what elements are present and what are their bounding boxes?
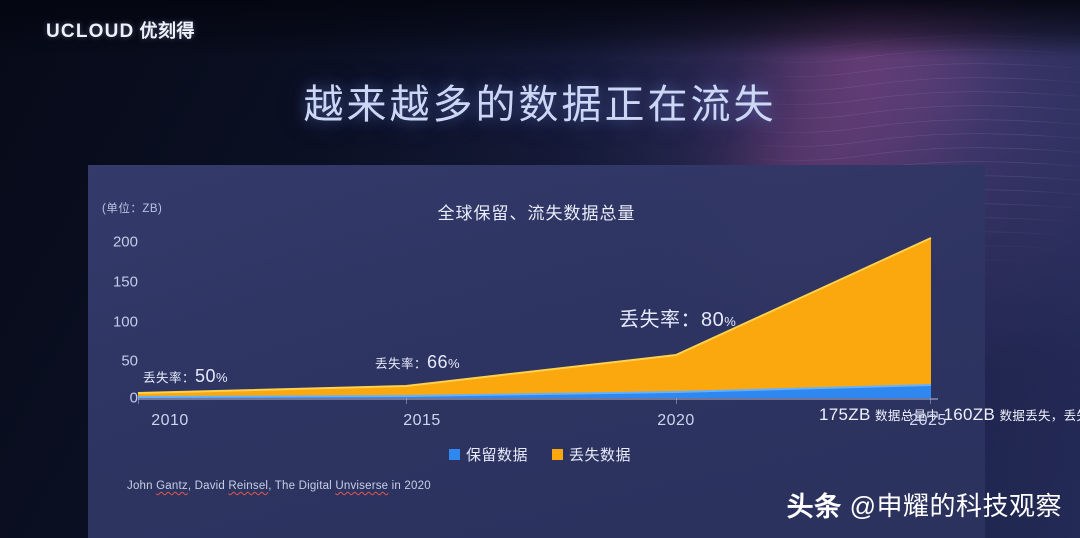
- legend-swatch-lost-icon: [552, 449, 563, 460]
- x-tick-mark-2025: [930, 398, 931, 404]
- watermark-source: 头条: [787, 485, 842, 524]
- series-lost-area: [138, 238, 931, 398]
- footnote-part-e: , The Digital: [268, 480, 335, 492]
- legend-item-retained[interactable]: 保留数据: [449, 444, 528, 465]
- annotation-value-66: 66: [427, 352, 448, 372]
- annotation-loss-rate-2010: 丢失率：50%: [143, 366, 228, 387]
- legend-swatch-retained-icon: [449, 449, 460, 460]
- legend-label-retained: 保留数据: [466, 444, 528, 465]
- annotation-loss-rate-2020: 丢失率：80%: [619, 303, 736, 332]
- legend-label-lost: 丢失数据: [569, 444, 631, 465]
- ucloud-logo: UCLOUD 优刻得: [46, 17, 195, 43]
- watermark: 头条 @申耀的科技观察: [787, 485, 1062, 524]
- legend-item-lost[interactable]: 丢失数据: [552, 444, 631, 465]
- annotation-label-66: 丢失率：: [375, 357, 427, 371]
- x-tick-mark-2020: [676, 398, 677, 404]
- logo-wordmark: UCLOUD: [46, 21, 134, 43]
- slide-root: UCLOUD 优刻得 越来越多的数据正在流失 (单位：ZB) 全球保留、流失数据…: [0, 0, 1080, 538]
- footnote-part-g: in 2020: [388, 480, 431, 492]
- lost-volume-value: 160ZB: [944, 405, 996, 424]
- x-tick-2025: 2025: [909, 412, 947, 430]
- x-tick-mark-2015: [406, 398, 407, 404]
- x-tick-2010: 2010: [151, 412, 189, 430]
- footnote-part-reinsel: Reinsel: [228, 480, 268, 492]
- x-tick-2015: 2015: [403, 412, 441, 430]
- y-tick-100: 100: [92, 314, 138, 331]
- annotation-unit-80: %: [724, 314, 736, 329]
- footnote-part-a: John: [127, 480, 156, 492]
- y-tick-150: 150: [92, 274, 138, 291]
- annotation-label-50: 丢失率：: [143, 371, 195, 385]
- logo-chinese-name: 优刻得: [139, 17, 195, 43]
- annotation-unit-66: %: [448, 356, 460, 371]
- lost-volume-text: 数据丢失，丢失率超: [1000, 409, 1080, 423]
- headline-annotation: 175ZB 数据总量中 160ZB 数据丢失，丢失率超 91%: [819, 405, 1080, 425]
- y-tick-50: 50: [92, 353, 138, 370]
- annotation-label-80: 丢失率：: [619, 309, 701, 331]
- x-tick-2020: 2020: [657, 412, 695, 430]
- annotation-unit-50: %: [216, 370, 228, 385]
- page-title: 越来越多的数据正在流失: [0, 72, 1080, 130]
- source-footnote: John Gantz, David Reinsel, The Digital U…: [127, 480, 431, 492]
- annotation-loss-rate-2015: 丢失率：66%: [375, 352, 460, 373]
- total-volume-value: 175ZB: [819, 405, 871, 424]
- footnote-part-c: , David: [188, 480, 229, 492]
- chart-legend: 保留数据 丢失数据: [0, 444, 1080, 465]
- watermark-handle: @申耀的科技观察: [850, 486, 1062, 523]
- footnote-part-gantz: Gantz: [156, 480, 188, 492]
- y-tick-0: 0: [92, 390, 138, 407]
- footnote-part-unviserse: Unviserse: [335, 480, 388, 492]
- annotation-value-50: 50: [195, 366, 216, 386]
- y-tick-200: 200: [92, 234, 138, 251]
- x-tick-mark-2010: [138, 398, 139, 404]
- x-axis-line: [138, 398, 938, 400]
- annotation-value-80: 80: [701, 309, 724, 331]
- y-axis: 200 150 100 50 0: [92, 230, 138, 406]
